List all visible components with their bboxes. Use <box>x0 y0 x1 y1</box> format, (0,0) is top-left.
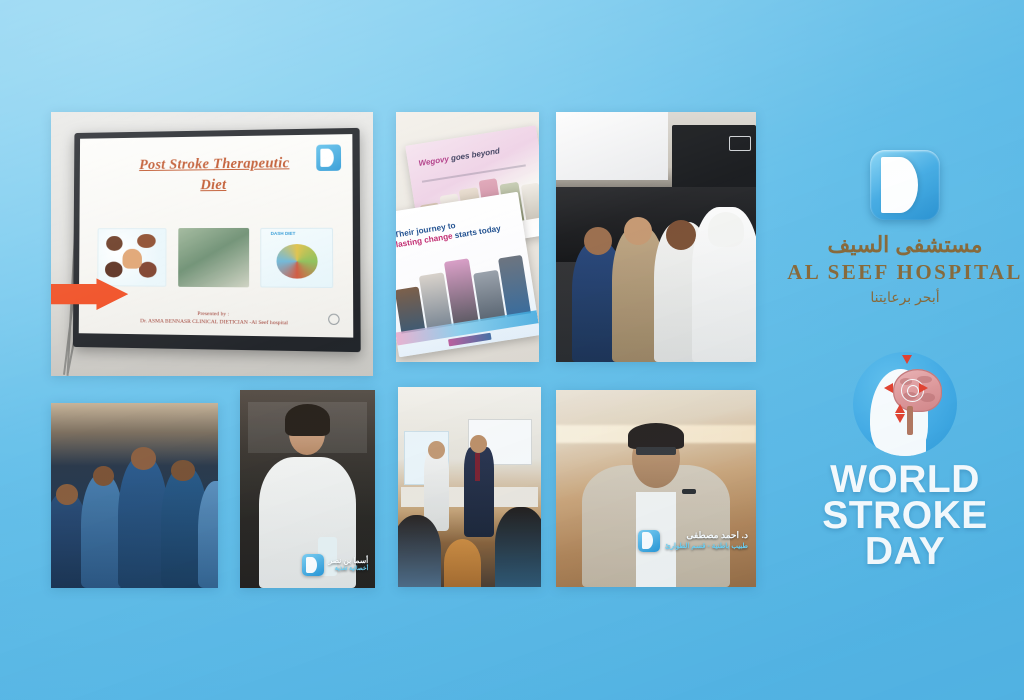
slide-title-line2: Diet <box>201 178 227 194</box>
head-brain-stroke-icon <box>853 352 957 456</box>
male-speaker-head <box>470 435 487 453</box>
doctor-name: د. احمد مصطفى <box>665 530 748 542</box>
slide-surface: Post Stroke Therapeutic Diet <box>79 135 354 338</box>
photo-seated-specialists <box>556 112 756 362</box>
wsd-line-stroke: STROKE <box>786 498 1024 534</box>
photo-nursing-audience <box>51 403 218 588</box>
attendee-head <box>708 212 744 247</box>
arrow-right-icon <box>919 383 928 393</box>
lapel-microphone-icon <box>682 489 696 495</box>
dietitian-name: أسما بن نصر <box>329 556 369 566</box>
al-seef-sail-logo-icon <box>870 150 940 220</box>
arrow-left-icon <box>884 383 893 393</box>
nurse-head <box>171 460 194 480</box>
doctor-role: طبيب باطنية - قسم الطوارئ <box>665 542 748 551</box>
slide-title-line1: Post Stroke Therapeutic <box>139 156 289 174</box>
dietitian-role: أخصائية تغذية <box>329 566 369 574</box>
brand-lockup: مستشفى السيف AL SEEF HOSPITAL أبحر برعاي… <box>786 150 1024 306</box>
doctor-hair <box>628 423 684 449</box>
slide-image-strip: DASH DIET <box>98 228 334 289</box>
attendee-head <box>584 227 612 255</box>
presented-by-label: Presented by : <box>198 311 230 317</box>
brand-name-english: AL SEEF HOSPITAL <box>786 260 1024 285</box>
foreground-attendee <box>398 515 441 587</box>
brand-name-arabic: مستشفى السيف <box>786 232 1024 258</box>
photo-presentation-screen: Post Stroke Therapeutic Diet <box>51 112 373 376</box>
brand-tagline-arabic: أبحر برعايتنا <box>786 289 1024 306</box>
slide-image-dash-diet: DASH DIET <box>261 228 334 289</box>
panel-display-icon <box>729 136 751 151</box>
neck-silhouette <box>884 427 926 456</box>
eyeglasses-icon <box>636 447 676 455</box>
photo-wegovy-brochures: Wegovy goes beyond Their journey to last… <box>396 112 539 362</box>
world-stroke-day-lockup: WORLD STROKE DAY <box>786 352 1024 570</box>
world-stroke-day-text: WORLD STROKE DAY <box>786 462 1024 570</box>
poster-canvas: Post Stroke Therapeutic Diet <box>0 0 1024 700</box>
dash-diet-label: DASH DIET <box>271 231 296 236</box>
brochure-back-title: Wegovy goes beyond <box>418 141 531 168</box>
slide-title: Post Stroke Therapeutic Diet <box>106 153 324 197</box>
attendee-head <box>624 217 652 245</box>
attendee-head <box>666 220 696 250</box>
nurse-head <box>131 447 156 469</box>
doctor-name-tag: د. احمد مصطفى طبيب باطنية - قسم الطوارئ <box>638 530 748 552</box>
slide-image-foods <box>98 228 167 287</box>
arrow-down-icon <box>895 414 905 423</box>
wsd-line-day: DAY <box>786 534 1024 570</box>
speaker-hair <box>285 404 331 436</box>
foreground-chair <box>444 539 481 587</box>
photo-speakers-meeting-room <box>398 387 541 587</box>
slide-corner-dot-icon <box>328 314 339 325</box>
brochure-front: Their journey to lasting change starts t… <box>396 192 539 358</box>
dietitian-name-tag: أسما بن نصر أخصائية تغذية <box>302 554 369 576</box>
arrow-up-icon <box>895 404 905 413</box>
nurse-head <box>56 484 78 504</box>
al-seef-sail-logo-icon <box>302 554 324 576</box>
brochure-front-title-line2-rest: starts today <box>452 224 501 241</box>
projection-screen <box>556 112 668 180</box>
wegovy-wordmark: Wegovy <box>418 154 450 168</box>
photo-dietitian-speaking: أسما بن نصر أخصائية تغذية <box>240 390 375 588</box>
wsd-line-world: WORLD <box>786 462 1024 498</box>
al-seef-sail-logo-icon <box>638 530 660 552</box>
presenter-name: Dr. ASMA BENNASR CLINICAL DIETICIAN -Al … <box>140 319 288 327</box>
slide-presenter-block: Presented by : Dr. ASMA BENNASR CLINICAL… <box>100 309 330 329</box>
photo-doctor-interview: د. احمد مصطفى طبيب باطنية - قسم الطوارئ <box>556 390 756 587</box>
slide-image-patient <box>178 228 249 288</box>
brain-stem <box>907 406 913 435</box>
foreground-attendee <box>495 507 541 587</box>
arrow-down-icon <box>902 355 912 364</box>
display-screen: Post Stroke Therapeutic Diet <box>73 128 360 352</box>
brochure-back-title-rest: goes beyond <box>448 146 500 163</box>
brochure-front-title: Their journey to lasting change starts t… <box>396 212 513 251</box>
female-speaker-head <box>428 441 445 459</box>
necktie <box>475 453 479 481</box>
